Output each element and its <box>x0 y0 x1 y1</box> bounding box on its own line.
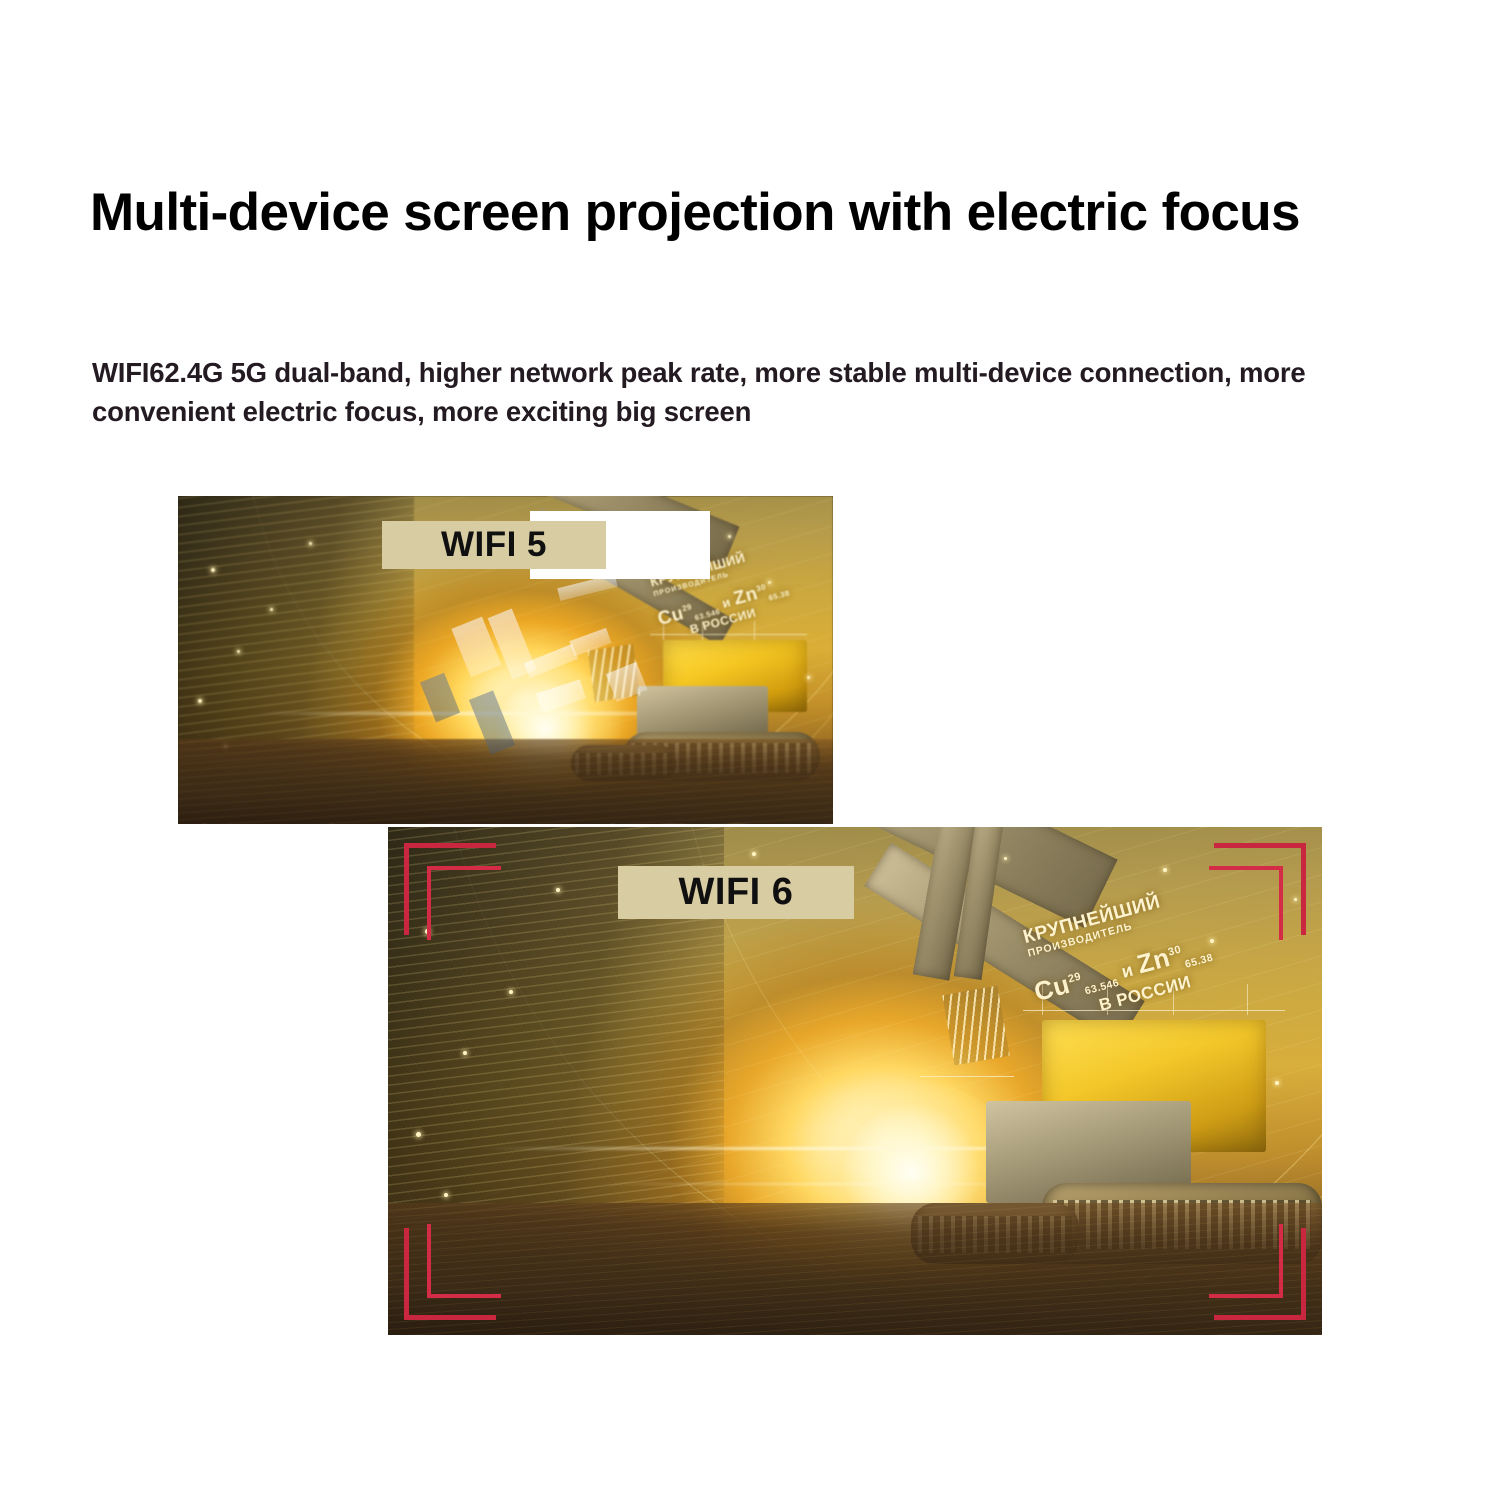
mining-scene-sharp: КРУПНЕЙШИЙ ПРОИЗВОДИТЕЛЬ Cu2963.546 и Zn… <box>388 827 1322 1335</box>
page-title: Multi-device screen projection with elec… <box>90 181 1360 245</box>
focus-bracket-bottom-left-inner <box>427 1224 501 1298</box>
focus-bracket-top-right-inner <box>1209 866 1283 940</box>
wifi6-comparison-photo: КРУПНЕЙШИЙ ПРОИЗВОДИТЕЛЬ Cu2963.546 и Zn… <box>388 827 1322 1335</box>
focus-bracket-top-left-inner <box>427 866 501 940</box>
ground-plane <box>388 1203 1322 1335</box>
page-subtitle: WIFI62.4G 5G dual-band, higher network p… <box>92 353 1412 433</box>
ground-plane <box>178 739 833 824</box>
focus-bracket-bottom-right-inner <box>1209 1224 1283 1298</box>
wifi6-label: WIFI 6 <box>618 866 854 919</box>
wifi5-label: WIFI 5 <box>382 521 606 569</box>
